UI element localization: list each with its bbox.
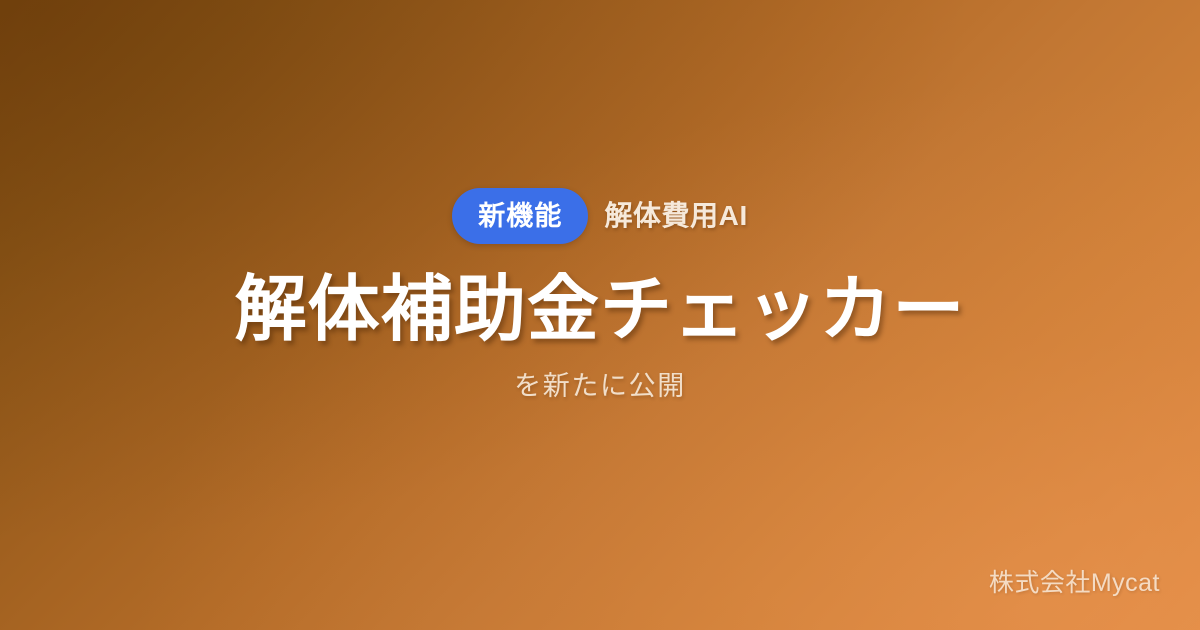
- card-content: 新機能 解体費用AI 解体補助金チェッカー を新たに公開: [0, 0, 1200, 630]
- product-name-label: 解体費用AI: [604, 202, 747, 230]
- company-brand-label: 株式会社Mycat: [989, 571, 1160, 596]
- page-title: 解体補助金チェッカー: [235, 270, 966, 351]
- eyebrow-row: 新機能 解体費用AI: [452, 188, 748, 244]
- new-feature-badge: 新機能: [452, 188, 588, 244]
- page-subtitle: を新たに公開: [514, 373, 686, 400]
- og-card: 新機能 解体費用AI 解体補助金チェッカー を新たに公開 株式会社Mycat: [0, 0, 1200, 630]
